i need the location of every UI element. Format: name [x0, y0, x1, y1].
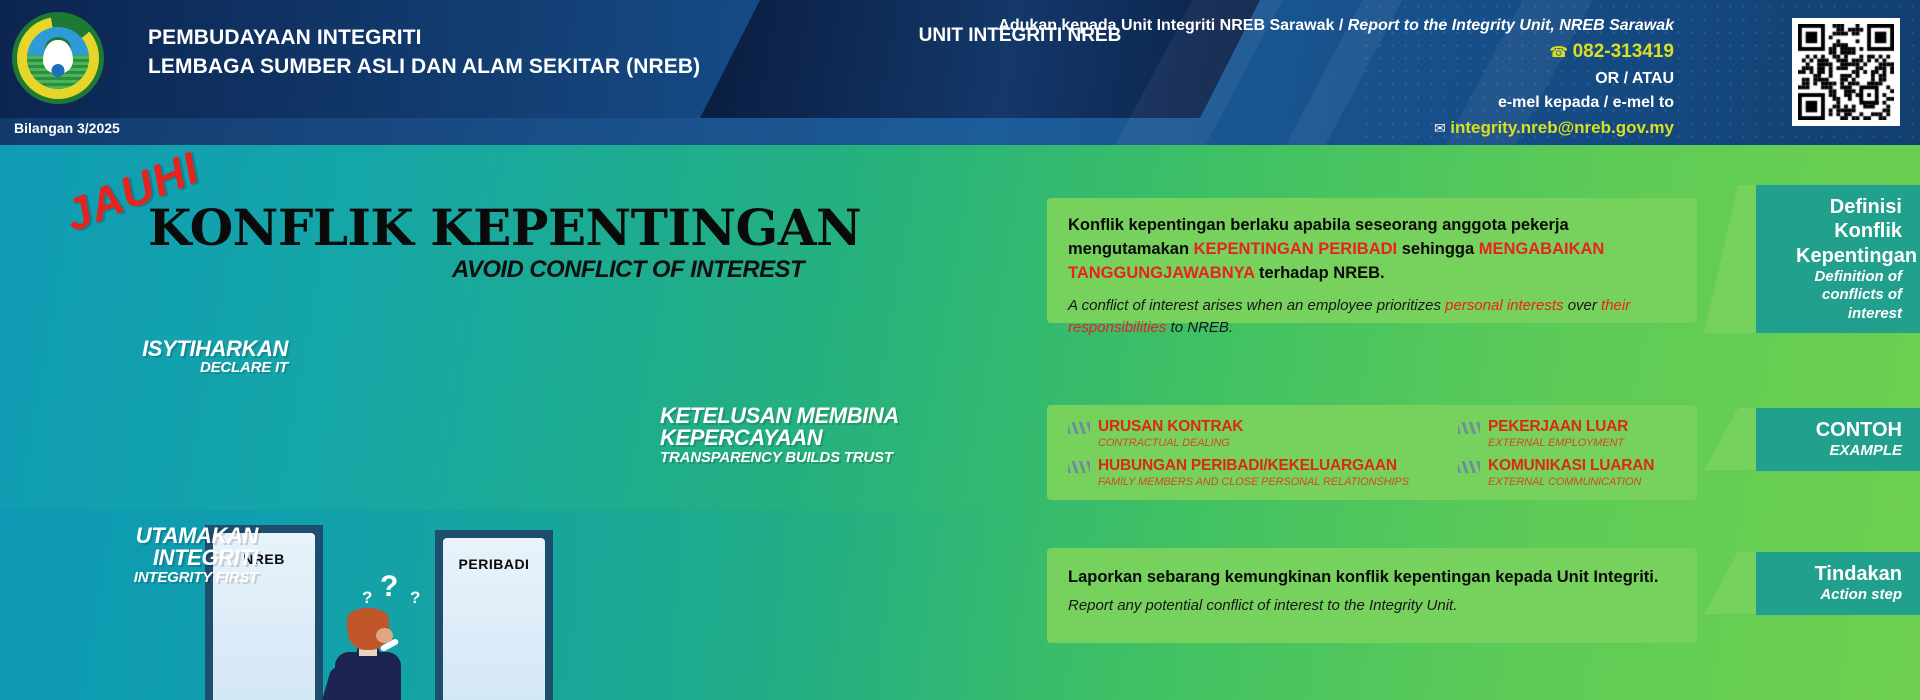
definition-tag: Definisi Konflik Kepentingan Definition …	[1756, 185, 1920, 333]
definition-tag-ms: Definisi Konflik Kepentingan	[1796, 195, 1902, 268]
caption-declare-ms: ISYTIHARKAN	[108, 338, 288, 360]
confused-person-illustration: ? ? ?	[318, 580, 423, 700]
chevrons-icon	[1068, 461, 1090, 473]
envelope-icon: ✉	[1434, 120, 1446, 136]
definition-text: Konflik kepentingan berlaku apabila sese…	[1068, 214, 1683, 338]
globe-icon	[52, 64, 65, 77]
example-en: EXTERNAL COMMUNICATION	[1488, 475, 1688, 489]
chevrons-icon	[1458, 422, 1480, 434]
definition-en-2: over	[1564, 297, 1602, 314]
nreb-logo	[12, 12, 104, 104]
definition-tag-en: Definition of conflicts of interest	[1796, 268, 1902, 323]
caption-integrity-en: INTEGRITY FIRST	[28, 570, 258, 585]
header-org-title: PEMBUDAYAAN INTEGRITI LEMBAGA SUMBER ASL…	[148, 24, 700, 82]
caption-declare-en: DECLARE IT	[108, 360, 288, 375]
definition-en-highlight-1: personal interests	[1445, 297, 1563, 314]
page-header: PEMBUDAYAAN INTEGRITI LEMBAGA SUMBER ASL…	[0, 0, 1920, 145]
definition-ms: Konflik kepentingan berlaku apabila sese…	[1068, 214, 1683, 286]
caption-declare: ISYTIHARKAN DECLARE IT	[108, 338, 288, 376]
caption-integrity-ms: UTAMAKAN INTEGRITI	[28, 525, 258, 570]
examples-tag-ms: CONTOH	[1796, 418, 1902, 442]
chevrons-icon	[1458, 461, 1480, 473]
action-en: Report any potential conflict of interes…	[1068, 597, 1683, 614]
example-ms: PEKERJAAN LUAR	[1488, 418, 1688, 436]
example-ms: HUBUNGAN PERIBADI/KEKELUARGAAN	[1098, 457, 1458, 475]
action-tag: Tindakan Action step	[1756, 552, 1920, 615]
example-en: FAMILY MEMBERS AND CLOSE PERSONAL RELATI…	[1098, 475, 1458, 489]
org-line-1: PEMBUDAYAAN INTEGRITI	[148, 24, 700, 53]
example-item: HUBUNGAN PERIBADI/KEKELUARGAAN FAMILY ME…	[1068, 457, 1458, 489]
action-text: Laporkan sebarang kemungkinan konflik ke…	[1068, 568, 1683, 614]
caption-transparency-ms: KETELUSAN MEMBINA KEPERCAYAAN	[660, 405, 910, 450]
header-contact-block: Adukan kepada Unit Integriti NREB Sarawa…	[974, 14, 1674, 145]
question-mark-small-right: ?	[410, 588, 420, 608]
examples-grid: URUSAN KONTRAK CONTRACTUAL DEALING PEKER…	[1068, 418, 1688, 494]
example-item: PEKERJAAN LUAR EXTERNAL EMPLOYMENT	[1458, 418, 1688, 450]
phone-icon: ☎	[1549, 44, 1568, 61]
example-en: CONTRACTUAL DEALING	[1098, 436, 1458, 450]
definition-ms-3: terhadap NREB.	[1254, 264, 1384, 282]
caption-transparency: KETELUSAN MEMBINA KEPERCAYAAN TRANSPAREN…	[660, 405, 910, 465]
report-line: Adukan kepada Unit Integriti NREB Sarawa…	[974, 14, 1674, 38]
action-tag-ms: Tindakan	[1796, 562, 1902, 586]
example-item: URUSAN KONTRAK CONTRACTUAL DEALING	[1068, 418, 1458, 450]
definition-ms-highlight-1: KEPENTINGAN PERIBADI	[1194, 240, 1398, 258]
example-ms: URUSAN KONTRAK	[1098, 418, 1458, 436]
report-line-ms: Adukan kepada Unit Integriti NREB Sarawa…	[998, 17, 1347, 34]
infographic-poster: PEMBUDAYAAN INTEGRITI LEMBAGA SUMBER ASL…	[0, 0, 1920, 700]
question-mark-small-left: ?	[362, 588, 372, 608]
org-line-2: LEMBAGA SUMBER ASLI DAN ALAM SEKITAR (NR…	[148, 53, 700, 82]
door-label-peribadi: PERIBADI	[435, 556, 553, 572]
chevrons-icon	[1068, 422, 1090, 434]
question-mark-large: ?	[380, 570, 398, 604]
caption-integrity-first: UTAMAKAN INTEGRITI INTEGRITY FIRST	[28, 525, 258, 585]
phone-row: ☎ 082-313419	[974, 38, 1674, 67]
example-en: EXTERNAL EMPLOYMENT	[1488, 436, 1688, 450]
report-line-en: Report to the Integrity Unit, NREB Saraw…	[1348, 17, 1674, 34]
definition-en-3: to NREB.	[1166, 319, 1233, 336]
action-tag-en: Action step	[1796, 586, 1902, 604]
email-row: ✉ integrity.nreb@nreb.gov.my	[974, 115, 1674, 141]
definition-en: A conflict of interest arises when an em…	[1068, 295, 1683, 339]
email-label: e-mel kepada / e-mel to	[974, 91, 1674, 115]
email-address[interactable]: integrity.nreb@nreb.gov.my	[1450, 118, 1674, 137]
action-ms: Laporkan sebarang kemungkinan konflik ke…	[1068, 568, 1683, 587]
definition-en-1: A conflict of interest arises when an em…	[1068, 297, 1445, 314]
definition-ms-2: sehingga	[1397, 240, 1479, 258]
issue-number: Bilangan 3/2025	[14, 120, 120, 136]
phone-number[interactable]: 082-313419	[1573, 41, 1674, 62]
example-ms: KOMUNIKASI LUARAN	[1488, 457, 1688, 475]
examples-tag: CONTOH EXAMPLE	[1756, 408, 1920, 471]
example-item: KOMUNIKASI LUARAN EXTERNAL COMMUNICATION	[1458, 457, 1688, 489]
qr-code[interactable]	[1792, 18, 1900, 126]
door-peribadi: PERIBADI	[435, 530, 553, 700]
caption-transparency-en: TRANSPARENCY BUILDS TRUST	[660, 450, 910, 465]
hero-title: KONFLIK KEPENTINGAN	[148, 198, 861, 257]
or-divider: OR / ATAU	[974, 67, 1674, 91]
examples-tag-en: EXAMPLE	[1796, 442, 1902, 460]
